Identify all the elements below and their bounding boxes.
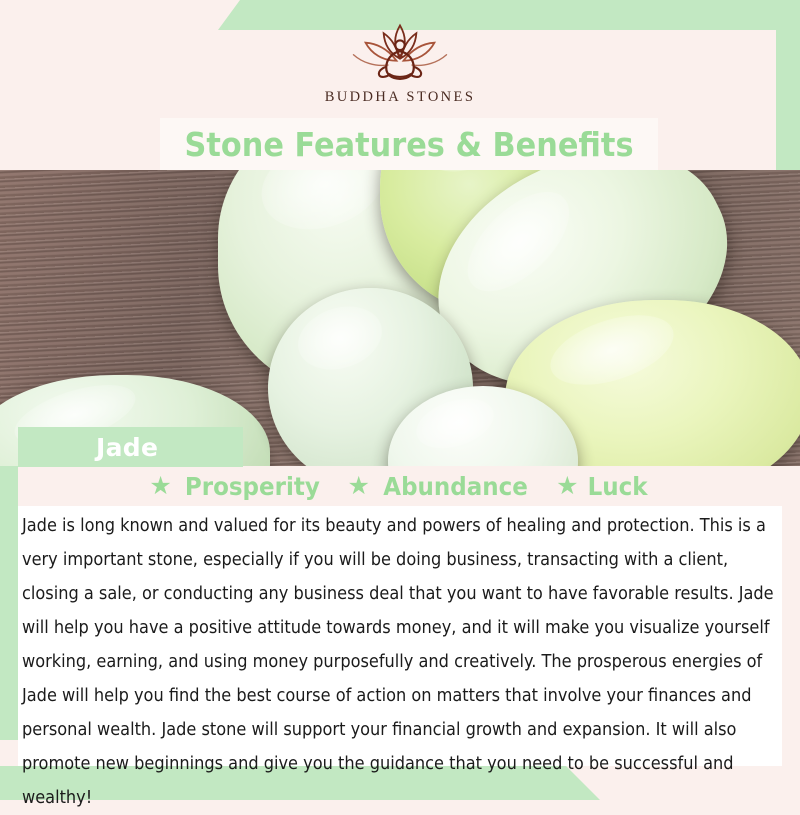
- accent-shape-left-lower: [0, 465, 18, 740]
- page-title: Stone Features & Benefits: [184, 125, 633, 164]
- benefit-item-luck: ★ Luck: [556, 472, 651, 501]
- benefit-label: Abundance: [383, 472, 528, 501]
- star-icon: ★: [149, 474, 171, 499]
- benefit-item-prosperity: ★ Prosperity: [149, 472, 325, 501]
- description-text: Jade is long known and valued for its be…: [22, 509, 774, 815]
- description-panel: Jade is long known and valued for its be…: [18, 506, 782, 766]
- star-icon: ★: [556, 474, 578, 499]
- benefit-label: Prosperity: [185, 472, 320, 501]
- lotus-meditation-icon: [348, 22, 452, 84]
- benefits-row: ★ Prosperity ★ Abundance ★ Luck: [18, 466, 782, 506]
- hero-stone-photo: [0, 170, 800, 466]
- brand-logo-area: BUDDHA STONES: [0, 0, 800, 118]
- stone-name: Jade: [96, 433, 158, 462]
- brand-name: BUDDHA STONES: [325, 89, 476, 106]
- title-banner: Stone Features & Benefits: [160, 118, 658, 170]
- benefit-item-abundance: ★ Abundance: [347, 472, 534, 501]
- star-icon: ★: [347, 474, 369, 499]
- benefit-label: Luck: [588, 472, 648, 501]
- jade-label-tab: Jade: [18, 427, 243, 467]
